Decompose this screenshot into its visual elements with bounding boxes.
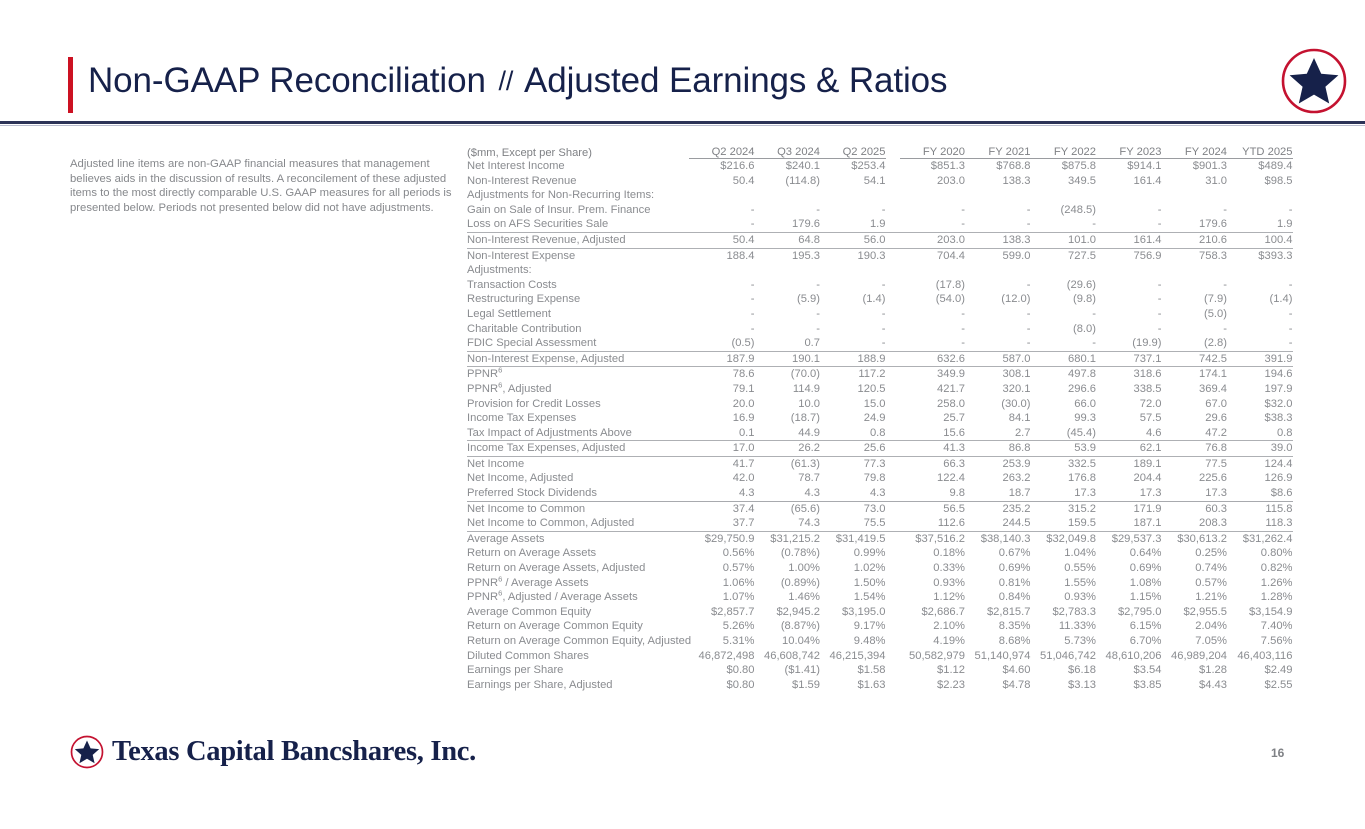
table-cell: 78.6 (689, 367, 755, 382)
table-row: Return on Average Assets0.56%(0.78%)0.99… (467, 546, 1293, 561)
table-cell (1227, 263, 1293, 278)
table-cell: (0.5) (689, 336, 755, 351)
table-cell (689, 188, 755, 203)
table-cell: $3.54 (1096, 663, 1162, 678)
table-cell: 632.6 (900, 351, 966, 367)
table-cell: 1.07% (689, 590, 755, 605)
table-cell: (7.9) (1162, 292, 1228, 307)
table-cell: $4.60 (965, 663, 1031, 678)
table-cell: 0.57% (689, 561, 755, 576)
table-cell-gap (886, 159, 900, 174)
table-cell: 1.26% (1227, 576, 1293, 591)
table-cell: (61.3) (755, 456, 821, 471)
table-cell: $4.78 (965, 678, 1031, 693)
table-cell-gap (886, 248, 900, 263)
table-cell: (12.0) (965, 292, 1031, 307)
table-cell: 187.1 (1096, 516, 1162, 531)
table-cell: 4.19% (900, 634, 966, 649)
table-cell (1031, 263, 1097, 278)
table-body: Net Interest Income$216.6$240.1$253.4$85… (467, 159, 1293, 693)
table-row: PPNR6 / Average Assets1.06%(0.89%)1.50%0… (467, 576, 1293, 591)
slide-header: Non-GAAP Reconciliation // Adjusted Earn… (0, 0, 1365, 122)
table-cell: - (689, 322, 755, 337)
table-cell: (30.0) (965, 397, 1031, 412)
table-cell: 56.5 (900, 501, 966, 516)
table-cell: $2.49 (1227, 663, 1293, 678)
row-label: Non-Interest Expense (467, 248, 689, 263)
column-header-q2-2025: Q2 2025 (820, 140, 886, 159)
row-label: Charitable Contribution (467, 322, 689, 337)
table-cell: 9.17% (820, 619, 886, 634)
table-cell: (9.8) (1031, 292, 1097, 307)
table-cell: (19.9) (1096, 336, 1162, 351)
column-header-q2-2024: Q2 2024 (689, 140, 755, 159)
table-cell: 67.0 (1162, 397, 1228, 412)
table-cell: - (755, 322, 821, 337)
table-cell: 758.3 (1162, 248, 1228, 263)
table-cell: 8.68% (965, 634, 1031, 649)
table-row: Transaction Costs---(17.8)-(29.6)--- (467, 278, 1293, 293)
page-title: Non-GAAP Reconciliation // Adjusted Earn… (88, 56, 947, 108)
table-row: Preferred Stock Dividends4.34.34.39.818.… (467, 486, 1293, 501)
table-cell: 188.4 (689, 248, 755, 263)
table-cell (820, 188, 886, 203)
table-cell-gap (886, 426, 900, 441)
table-cell: 101.0 (1031, 232, 1097, 248)
table-cell-gap (886, 516, 900, 531)
table-cell-gap (886, 232, 900, 248)
row-label: Restructuring Expense (467, 292, 689, 307)
row-label: Tax Impact of Adjustments Above (467, 426, 689, 441)
table-cell: - (820, 307, 886, 322)
table-cell: 74.3 (755, 516, 821, 531)
table-row: Net Income41.7(61.3)77.366.3253.9332.518… (467, 456, 1293, 471)
table-cell: 26.2 (755, 441, 821, 457)
table-cell: - (820, 278, 886, 293)
table-cell: 194.6 (1227, 367, 1293, 382)
table-cell: 599.0 (965, 248, 1031, 263)
table-cell: - (1162, 203, 1228, 218)
table-cell: 0.8 (1227, 426, 1293, 441)
table-row: Income Tax Expenses, Adjusted17.026.225.… (467, 441, 1293, 457)
table-cell: 37.7 (689, 516, 755, 531)
table-cell: 497.8 (1031, 367, 1097, 382)
table-cell-gap (886, 531, 900, 546)
table-cell: 138.3 (965, 232, 1031, 248)
table-cell-gap (886, 590, 900, 605)
column-header-ytd-2025: YTD 2025 (1227, 140, 1293, 159)
table-cell: 391.9 (1227, 351, 1293, 367)
table-cell: 332.5 (1031, 456, 1097, 471)
table-cell: - (965, 217, 1031, 232)
table-cell: 48,610,206 (1096, 649, 1162, 664)
table-cell: 17.0 (689, 441, 755, 457)
table-row: Non-Interest Expense188.4195.3190.3704.4… (467, 248, 1293, 263)
table-cell: 159.5 (1031, 516, 1097, 531)
table-cell: 189.1 (1096, 456, 1162, 471)
row-label: Return on Average Assets (467, 546, 689, 561)
table-cell: 197.9 (1227, 382, 1293, 397)
table-cell: (5.0) (1162, 307, 1228, 322)
table-cell: - (1227, 336, 1293, 351)
table-cell: - (755, 307, 821, 322)
table-cell: 0.1 (689, 426, 755, 441)
table-cell: $30,613.2 (1162, 531, 1228, 546)
table-cell: 161.4 (1096, 232, 1162, 248)
table-cell: 737.1 (1096, 351, 1162, 367)
title-separator-icon: // (495, 66, 516, 96)
table-cell: - (1096, 322, 1162, 337)
row-label: Income Tax Expenses (467, 411, 689, 426)
table-row: Net Income to Common37.4(65.6)73.056.523… (467, 501, 1293, 516)
table-cell: - (755, 278, 821, 293)
table-cell: 42.0 (689, 471, 755, 486)
table-cell: $2.55 (1227, 678, 1293, 693)
row-label: Net Income to Common, Adjusted (467, 516, 689, 531)
table-cell: (70.0) (755, 367, 821, 382)
row-label: Average Common Equity (467, 605, 689, 620)
table-cell-gap (886, 634, 900, 649)
table-cell: 47.2 (1162, 426, 1228, 441)
table-cell: 349.5 (1031, 174, 1097, 189)
table-cell: - (1227, 322, 1293, 337)
table-cell: 0.25% (1162, 546, 1228, 561)
table-cell: $875.8 (1031, 159, 1097, 174)
column-header-label: ($mm, Except per Share) (467, 140, 689, 159)
table-cell: 187.9 (689, 351, 755, 367)
table-cell: $2,686.7 (900, 605, 966, 620)
title-accent-bar (68, 57, 73, 113)
row-label: Earnings per Share, Adjusted (467, 678, 689, 693)
table-cell: 190.3 (820, 248, 886, 263)
table-cell: $216.6 (689, 159, 755, 174)
table-row: Legal Settlement-------(5.0)- (467, 307, 1293, 322)
table-cell-gap (886, 501, 900, 516)
table-cell: $1.12 (900, 663, 966, 678)
table-cell: 1.50% (820, 576, 886, 591)
table-cell: - (820, 203, 886, 218)
table-cell: 204.4 (1096, 471, 1162, 486)
table-cell: - (820, 336, 886, 351)
table-cell: 1.06% (689, 576, 755, 591)
table-cell: 6.70% (1096, 634, 1162, 649)
table-cell: - (689, 217, 755, 232)
table-cell: 680.1 (1031, 351, 1097, 367)
table-cell: - (900, 322, 966, 337)
table-cell: 46,989,204 (1162, 649, 1228, 664)
table-cell: 0.8 (820, 426, 886, 441)
table-cell: 17.3 (1031, 486, 1097, 501)
table-cell: - (689, 292, 755, 307)
row-label: Income Tax Expenses, Adjusted (467, 441, 689, 457)
row-label: Diluted Common Shares (467, 649, 689, 664)
table-cell: 18.7 (965, 486, 1031, 501)
table-cell: - (1031, 336, 1097, 351)
table-cell: 77.5 (1162, 456, 1228, 471)
table-cell: 7.40% (1227, 619, 1293, 634)
table-cell: $6.18 (1031, 663, 1097, 678)
row-label: Earnings per Share (467, 663, 689, 678)
table-row: Non-Interest Revenue, Adjusted50.464.856… (467, 232, 1293, 248)
table-cell: $393.3 (1227, 248, 1293, 263)
table-cell: $0.80 (689, 678, 755, 693)
footnote-marker: 6 (498, 588, 502, 597)
table-cell: 0.55% (1031, 561, 1097, 576)
page-number: 16 (1271, 746, 1284, 760)
table-cell: 66.3 (900, 456, 966, 471)
table-cell: 0.82% (1227, 561, 1293, 576)
table-cell: (114.8) (755, 174, 821, 189)
table-cell: 54.1 (820, 174, 886, 189)
table-cell (689, 263, 755, 278)
table-cell: 46,215,394 (820, 649, 886, 664)
table-cell: 6.15% (1096, 619, 1162, 634)
table-cell: 1.04% (1031, 546, 1097, 561)
table-cell: 9.8 (900, 486, 966, 501)
table-cell: 100.4 (1227, 232, 1293, 248)
table-cell: 587.0 (965, 351, 1031, 367)
row-label: PPNR6, Adjusted / Average Assets (467, 590, 689, 605)
table-cell: $8.6 (1227, 486, 1293, 501)
row-label: Preferred Stock Dividends (467, 486, 689, 501)
table-cell: 84.1 (965, 411, 1031, 426)
table-cell-gap (886, 486, 900, 501)
table-cell: $914.1 (1096, 159, 1162, 174)
table-cell-gap (886, 292, 900, 307)
table-cell: $851.3 (900, 159, 966, 174)
table-cell: 57.5 (1096, 411, 1162, 426)
table-cell: - (1031, 217, 1097, 232)
table-header: ($mm, Except per Share)Q2 2024Q3 2024Q2 … (467, 140, 1293, 159)
table-cell: 51,140,974 (965, 649, 1031, 664)
table-cell: (1.4) (1227, 292, 1293, 307)
table-cell: 17.3 (1096, 486, 1162, 501)
table-cell: (2.8) (1162, 336, 1228, 351)
table-cell (820, 263, 886, 278)
table-row: Earnings per Share$0.80($1.41)$1.58$1.12… (467, 663, 1293, 678)
table-cell: $2,783.3 (1031, 605, 1097, 620)
table-cell: $3.13 (1031, 678, 1097, 693)
table-cell: 704.4 (900, 248, 966, 263)
table-row: Tax Impact of Adjustments Above0.144.90.… (467, 426, 1293, 441)
table-cell: 1.15% (1096, 590, 1162, 605)
table-cell: 1.12% (900, 590, 966, 605)
column-header-fy-2021: FY 2021 (965, 140, 1031, 159)
table-cell: 75.5 (820, 516, 886, 531)
table-row: Return on Average Common Equity5.26%(8.8… (467, 619, 1293, 634)
table-cell: 78.7 (755, 471, 821, 486)
table-cell: (0.89%) (755, 576, 821, 591)
non-gaap-reconciliation-table: ($mm, Except per Share)Q2 2024Q3 2024Q2 … (467, 140, 1293, 692)
table-cell: $38.3 (1227, 411, 1293, 426)
table-cell: 1.02% (820, 561, 886, 576)
table-header-row: ($mm, Except per Share)Q2 2024Q3 2024Q2 … (467, 140, 1293, 159)
table-cell: - (900, 217, 966, 232)
table-cell: 24.9 (820, 411, 886, 426)
page-title-sub: Adjusted Earnings & Ratios (524, 61, 947, 100)
table-row: Provision for Credit Losses20.010.015.02… (467, 397, 1293, 412)
table-cell: 1.46% (755, 590, 821, 605)
table-cell: 86.8 (965, 441, 1031, 457)
table-cell: 727.5 (1031, 248, 1097, 263)
table-cell: 0.33% (900, 561, 966, 576)
table-cell-gap (886, 188, 900, 203)
table-cell: - (900, 336, 966, 351)
table-cell: 0.67% (965, 546, 1031, 561)
table-cell: - (1227, 278, 1293, 293)
table-cell-gap (886, 322, 900, 337)
table-cell: - (1031, 307, 1097, 322)
table-cell: (29.6) (1031, 278, 1097, 293)
table-cell: 179.6 (755, 217, 821, 232)
table-row: Gain on Sale of Insur. Prem. Finance----… (467, 203, 1293, 218)
table-cell: 210.6 (1162, 232, 1228, 248)
table-cell (1162, 188, 1228, 203)
table-cell: 0.64% (1096, 546, 1162, 561)
table-cell: 338.5 (1096, 382, 1162, 397)
footnote-marker: 6 (498, 380, 502, 389)
row-label: Non-Interest Revenue, Adjusted (467, 232, 689, 248)
table-cell: $240.1 (755, 159, 821, 174)
row-label: Non-Interest Expense, Adjusted (467, 351, 689, 367)
row-label: Net Income, Adjusted (467, 471, 689, 486)
table-cell: $4.43 (1162, 678, 1228, 693)
table-cell-gap (886, 351, 900, 367)
row-label: Provision for Credit Losses (467, 397, 689, 412)
table-cell: 320.1 (965, 382, 1031, 397)
table-cell-gap (886, 561, 900, 576)
footnote-marker: 6 (498, 366, 502, 375)
table-cell: 0.80% (1227, 546, 1293, 561)
footer-company-name: Texas Capital Bancshares, Inc. (112, 736, 476, 768)
table-cell: ($1.41) (755, 663, 821, 678)
table-cell: - (965, 307, 1031, 322)
column-header-fy-2022: FY 2022 (1031, 140, 1097, 159)
table-cell: 9.48% (820, 634, 886, 649)
table-cell: 5.26% (689, 619, 755, 634)
table-cell: 0.93% (900, 576, 966, 591)
table-cell (1162, 263, 1228, 278)
table-cell: (8.0) (1031, 322, 1097, 337)
table-cell: 0.93% (1031, 590, 1097, 605)
table-cell: 99.3 (1031, 411, 1097, 426)
table-cell: 66.0 (1031, 397, 1097, 412)
table-cell: $32.0 (1227, 397, 1293, 412)
table-cell: $1.28 (1162, 663, 1228, 678)
table-cell: 1.08% (1096, 576, 1162, 591)
table-cell: 46,608,742 (755, 649, 821, 664)
table-cell: 51,046,742 (1031, 649, 1097, 664)
footnote-marker: 6 (498, 574, 502, 583)
table-cell-gap (886, 174, 900, 189)
table-cell: 56.0 (820, 232, 886, 248)
table-cell-gap (886, 382, 900, 397)
table-cell: 7.05% (1162, 634, 1228, 649)
table-cell: 742.5 (1162, 351, 1228, 367)
table-cell: - (755, 203, 821, 218)
row-label: PPNR6, Adjusted (467, 382, 689, 397)
table-cell: 76.8 (1162, 441, 1228, 457)
table-cell: (8.87%) (755, 619, 821, 634)
table-cell: - (900, 203, 966, 218)
table-cell: (45.4) (1031, 426, 1097, 441)
table-cell: 5.73% (1031, 634, 1097, 649)
table-cell (965, 188, 1031, 203)
table-cell: 44.9 (755, 426, 821, 441)
table-cell: 112.6 (900, 516, 966, 531)
table-cell: $2.23 (900, 678, 966, 693)
table-cell: - (965, 203, 1031, 218)
row-label: Transaction Costs (467, 278, 689, 293)
table-cell: 1.9 (1227, 217, 1293, 232)
table-cell: - (965, 336, 1031, 351)
table-cell: (17.8) (900, 278, 966, 293)
table-cell: 50.4 (689, 174, 755, 189)
texas-capital-star-logo-icon (1280, 47, 1348, 115)
table-cell: 15.6 (900, 426, 966, 441)
table-cell: 0.74% (1162, 561, 1228, 576)
table-cell: $29,750.9 (689, 531, 755, 546)
table-row: PPNR6, Adjusted79.1114.9120.5421.7320.12… (467, 382, 1293, 397)
table-cell: - (689, 203, 755, 218)
table-cell (755, 188, 821, 203)
table-cell: 37.4 (689, 501, 755, 516)
table-row: Net Income, Adjusted42.078.779.8122.4263… (467, 471, 1293, 486)
table-cell: 138.3 (965, 174, 1031, 189)
table-cell: 50.4 (689, 232, 755, 248)
row-label: Loss on AFS Securities Sale (467, 217, 689, 232)
table-cell: 20.0 (689, 397, 755, 412)
row-label: Net Income to Common (467, 501, 689, 516)
header-rule (0, 121, 1365, 124)
table-cell: $31,262.4 (1227, 531, 1293, 546)
table-cell-gap (886, 411, 900, 426)
table-cell: $253.4 (820, 159, 886, 174)
table-cell: $37,516.2 (900, 531, 966, 546)
table-row: Diluted Common Shares46,872,49846,608,74… (467, 649, 1293, 664)
table-cell: 0.69% (1096, 561, 1162, 576)
column-header-fy-2023: FY 2023 (1096, 140, 1162, 159)
table-cell: 29.6 (1162, 411, 1228, 426)
table-cell: - (965, 322, 1031, 337)
footer-logo: Texas Capital Bancshares, Inc. (70, 735, 476, 769)
table-row: Average Common Equity$2,857.7$2,945.2$3,… (467, 605, 1293, 620)
column-header-fy-2020: FY 2020 (900, 140, 966, 159)
table-cell: 308.1 (965, 367, 1031, 382)
table-cell-gap (886, 605, 900, 620)
table-cell-gap (886, 678, 900, 693)
table-cell: $901.3 (1162, 159, 1228, 174)
table-row: Non-Interest Revenue50.4(114.8)54.1203.0… (467, 174, 1293, 189)
table-cell: 118.3 (1227, 516, 1293, 531)
table-cell: 756.9 (1096, 248, 1162, 263)
table-cell: 0.57% (1162, 576, 1228, 591)
table-row: Net Income to Common, Adjusted37.774.375… (467, 516, 1293, 531)
header-rule-secondary (0, 125, 1365, 126)
table-cell: 208.3 (1162, 516, 1228, 531)
table-cell-gap (886, 263, 900, 278)
table-cell: $2,955.5 (1162, 605, 1228, 620)
table-cell: $32,049.8 (1031, 531, 1097, 546)
table-cell: 117.2 (820, 367, 886, 382)
row-label: Return on Average Common Equity (467, 619, 689, 634)
table-cell: 79.8 (820, 471, 886, 486)
row-label: Net Interest Income (467, 159, 689, 174)
table-cell: 0.18% (900, 546, 966, 561)
table-cell: $489.4 (1227, 159, 1293, 174)
column-header-q3-2024: Q3 2024 (755, 140, 821, 159)
table-cell (900, 188, 966, 203)
